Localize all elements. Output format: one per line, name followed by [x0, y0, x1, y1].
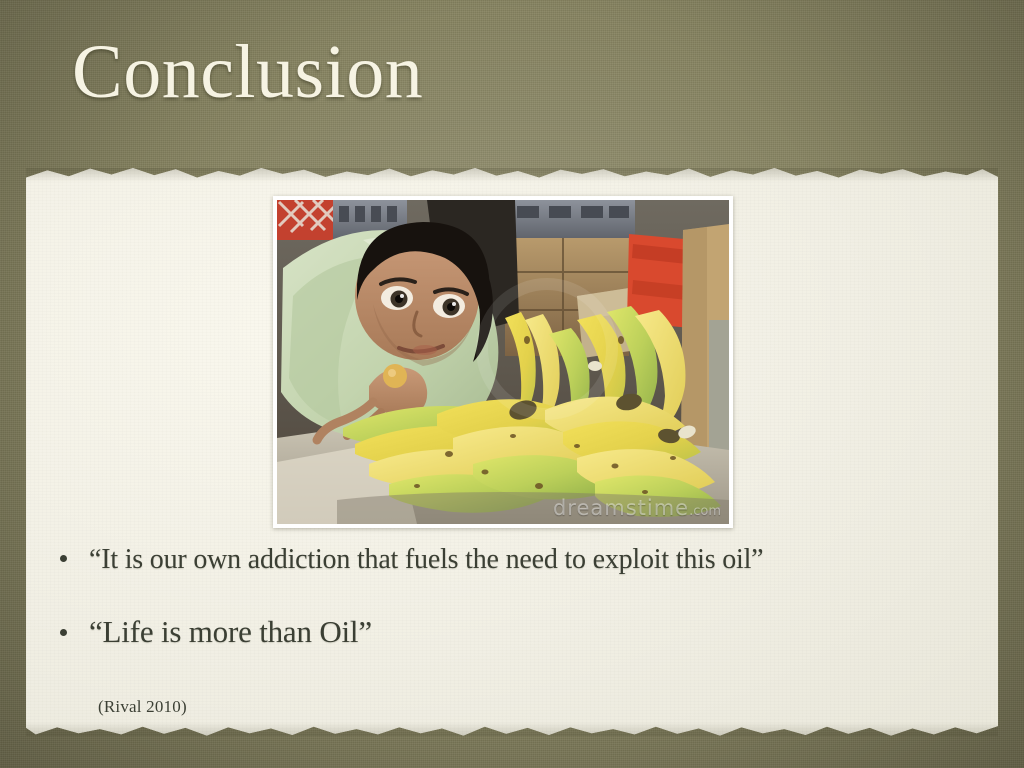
bullet-text-quote-addiction: “It is our own addiction that fuels the … — [89, 544, 763, 576]
photo-image: dreamstime.com — [277, 200, 729, 524]
bullet-dot-icon — [60, 629, 67, 636]
list-item: “It is our own addiction that fuels the … — [60, 544, 960, 576]
bullet-list: “It is our own addiction that fuels the … — [60, 544, 960, 650]
photo-frame: dreamstime.com — [273, 196, 733, 528]
list-item: “Life is more than Oil” — [60, 614, 960, 650]
presentation-slide: Conclusion — [0, 0, 1024, 768]
bullet-text-quote-life: “Life is more than Oil” — [89, 614, 372, 650]
bullet-dot-icon — [60, 555, 67, 562]
citation-reference: (Rival 2010) — [98, 697, 187, 717]
page-title: Conclusion — [72, 34, 423, 110]
